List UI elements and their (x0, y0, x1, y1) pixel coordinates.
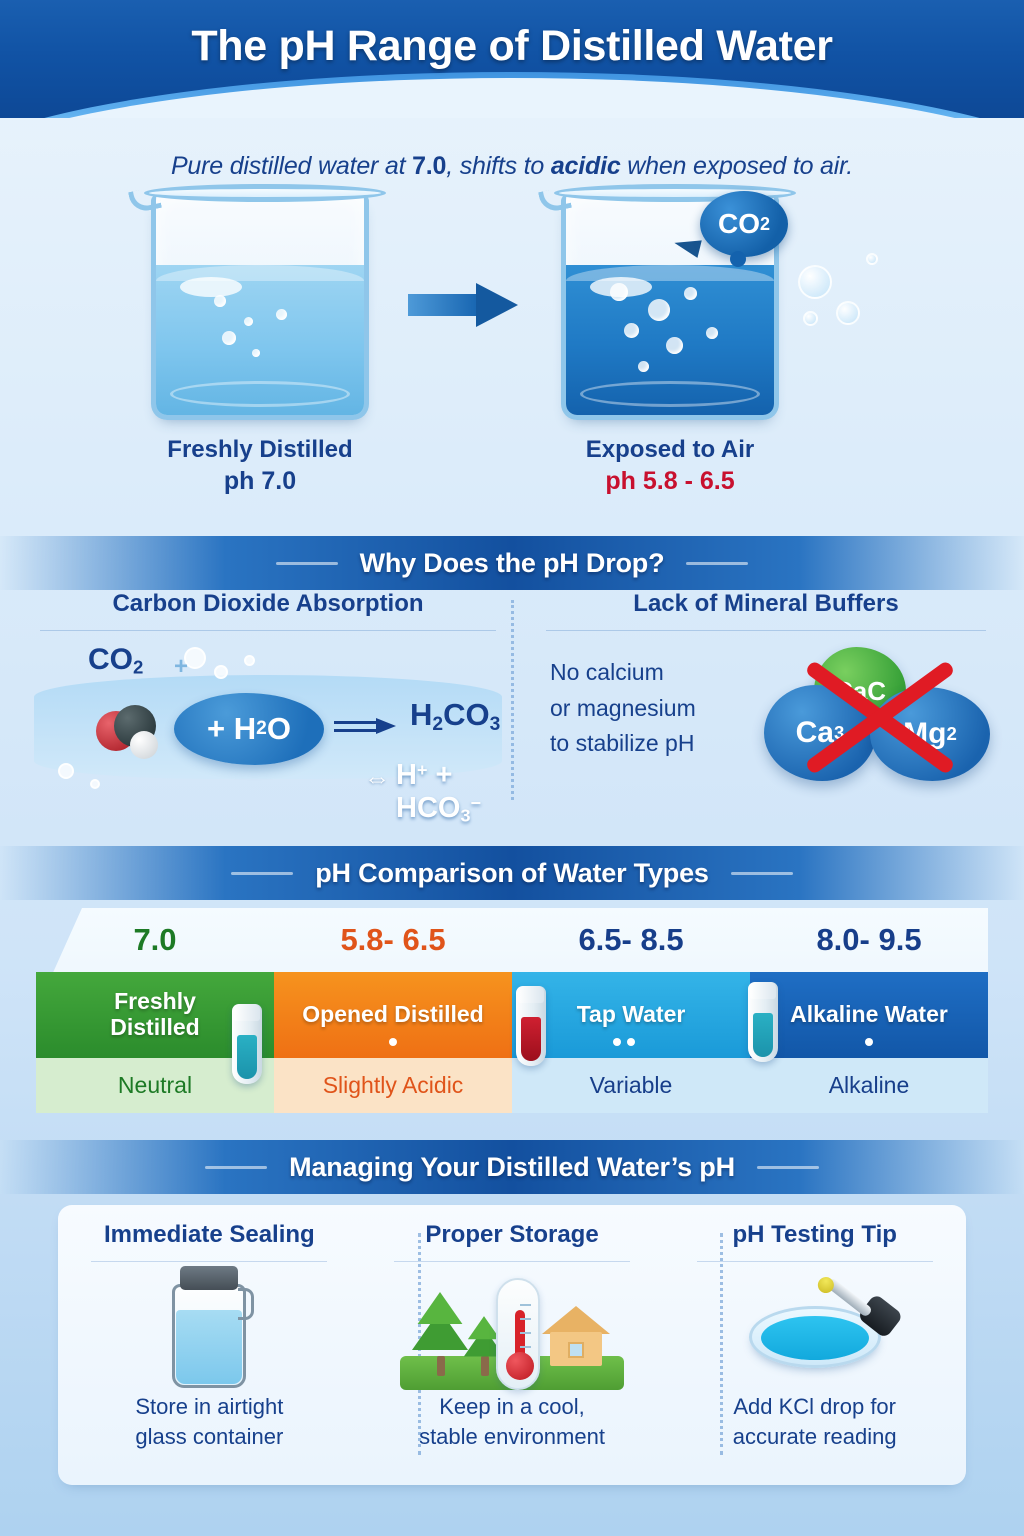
why-section-band: Why Does the pH Drop? (0, 536, 1024, 590)
ph-value: 6.5- 8.5 (512, 908, 750, 972)
tip-heading: Proper Storage (425, 1221, 598, 1249)
tip-heading: pH Testing Tip (732, 1221, 896, 1249)
equilibrium-arrow-icon: ⇔ (364, 763, 390, 794)
beaker-exposed-ph: ph 5.8 - 6.5 (520, 467, 820, 496)
beaker-comparison: Freshly Distilled ph 7.0 (0, 195, 1024, 525)
subtitle-part3: when exposed to air. (621, 152, 854, 180)
bubble-icon (276, 309, 287, 320)
equation-water-blob: + H2O (174, 693, 324, 765)
page-title: The pH Range of Distilled Water (0, 0, 1024, 71)
bubble-icon (244, 317, 253, 326)
bubble-icon (866, 253, 878, 265)
comparison-columns: 7.0 Freshly Distilled Neutral 5.8- 6.5 O… (36, 908, 988, 1113)
test-tube-icon (232, 1004, 262, 1084)
water-light (156, 265, 364, 415)
bubble-icon (222, 331, 236, 345)
bubble-icon (90, 779, 100, 789)
bubble-icon (666, 337, 683, 354)
thermometer-landscape-icon (361, 1262, 664, 1392)
water-type-label: Alkaline Water (750, 972, 988, 1058)
comparison-band-title: pH Comparison of Water Types (293, 858, 730, 889)
bubble-icon (803, 311, 818, 326)
comparison-col-alkaline-water[interactable]: 8.0- 9.5 Alkaline Water Alkaline (750, 908, 988, 1113)
ph-description: Slightly Acidic (274, 1058, 512, 1113)
band-tick-right (757, 1166, 819, 1169)
tip-caption: Store in airtight glass container (135, 1392, 283, 1451)
arrow-line (334, 729, 378, 732)
beaker-spout (128, 186, 162, 214)
beaker-exposed-icon: CO2 (561, 195, 779, 420)
hydrogen-atom (130, 731, 158, 759)
jar-water (176, 1310, 242, 1384)
band-tick-left (205, 1166, 267, 1169)
beaker-fresh-caption: Freshly Distilled (110, 436, 410, 464)
co2-arrow-icon (672, 234, 702, 258)
bubble-icon (836, 301, 860, 325)
tip-ph-testing[interactable]: pH Testing Tip (663, 1205, 966, 1485)
tree-trunk (481, 1356, 489, 1376)
bubble-icon (214, 665, 228, 679)
mineral-molecules-icon: CaC Ca3 Mg2 (760, 647, 992, 787)
tip-proper-storage[interactable]: Proper Storage (361, 1205, 664, 1485)
band-tick-right (686, 562, 748, 565)
bubble-icon (610, 283, 628, 301)
subtitle-emphasis: acidic (551, 152, 621, 180)
tip-immediate-sealing[interactable]: Immediate Sealing Store in airtight glas… (58, 1205, 361, 1485)
equation-co2: CO2 (88, 643, 143, 679)
mineral-text: No calcium or magnesium to stabilize pH (550, 655, 696, 762)
why-panel: Carbon Dioxide Absorption CO2 + + H2O (0, 590, 1024, 815)
tip-caption: Add KCl drop for accurate reading (733, 1392, 897, 1451)
water-type-label: Opened Distilled (274, 972, 512, 1058)
ph-value: 7.0 (36, 908, 274, 972)
ph-value: 8.0- 9.5 (750, 908, 988, 972)
bubble-icon (798, 265, 832, 299)
tips-panel: Immediate Sealing Store in airtight glas… (0, 1195, 1024, 1485)
band-tick-right (731, 872, 793, 875)
beaker-base-ellipse (170, 381, 350, 407)
bubble-icon (638, 361, 649, 372)
bubble-icon (58, 763, 74, 779)
water-dark (566, 265, 774, 415)
bubble-icon (252, 349, 260, 357)
marker-dot (865, 1038, 873, 1046)
beaker-fresh-group: Freshly Distilled ph 7.0 (110, 195, 410, 496)
water-gloss (180, 277, 242, 297)
why-left-rule (40, 630, 496, 631)
arrow-head (376, 718, 396, 734)
ph-description: Alkaline (750, 1058, 988, 1113)
glass-jar-icon (58, 1262, 361, 1392)
mineral-line-3: to stabilize pH (550, 726, 696, 762)
why-left-heading: Carbon Dioxide Absorption (34, 590, 502, 618)
infographic-page: The pH Range of Distilled Water Pure dis… (0, 0, 1024, 1536)
test-tube-icon (748, 982, 778, 1062)
house-icon (546, 1306, 606, 1366)
beaker-base-ellipse (580, 381, 760, 407)
dropper-petri-dish-icon (663, 1262, 966, 1392)
co2-subscript: 2 (760, 214, 770, 235)
header-banner: The pH Range of Distilled Water (0, 0, 1024, 118)
beaker-rim (144, 184, 386, 202)
co2-badge: CO2 (700, 191, 788, 257)
marker-dot (389, 1038, 397, 1046)
band-tick-left (276, 562, 338, 565)
subtitle-part1: Pure distilled water at (171, 152, 412, 180)
tip-caption-line-1: Add KCl drop for (733, 1392, 897, 1422)
mineral-line-1: No calcium (550, 655, 696, 691)
bubble-icon (244, 655, 255, 666)
comparison-col-opened-distilled[interactable]: 5.8- 6.5 Opened Distilled Slightly Acidi… (274, 908, 512, 1113)
bubble-icon (684, 287, 697, 300)
thermometer-icon (496, 1278, 540, 1390)
tip-caption: Keep in a cool, stable environment (419, 1392, 605, 1451)
tips-card: Immediate Sealing Store in airtight glas… (58, 1205, 966, 1485)
equation-plus: + (174, 653, 188, 681)
comparison-col-tap-water[interactable]: 6.5- 8.5 Tap Water Variable (512, 908, 750, 1113)
comparison-section-band: pH Comparison of Water Types (0, 846, 1024, 900)
tips-section-band: Managing Your Distilled Water’s pH (0, 1140, 1024, 1194)
tips-grid: Immediate Sealing Store in airtight glas… (58, 1205, 966, 1485)
tips-band-title: Managing Your Distilled Water’s pH (267, 1152, 757, 1183)
mineral-line-2: or magnesium (550, 691, 696, 727)
beaker-spout (538, 186, 572, 214)
why-right-rule (546, 630, 986, 631)
arrow-head (476, 283, 518, 327)
beaker-exposed-group: CO2 Exposed to Air ph 5.8 - 6.5 (520, 195, 820, 496)
tip-heading: Immediate Sealing (104, 1221, 315, 1249)
transition-arrow-icon (408, 283, 518, 327)
jar-cap (180, 1266, 238, 1290)
why-band-title: Why Does the pH Drop? (338, 548, 687, 579)
subtitle-ph-value: 7.0 (412, 152, 446, 180)
bubble-icon (648, 299, 670, 321)
marker-dot (613, 1038, 621, 1046)
jar-handle (238, 1288, 254, 1320)
ph-value: 5.8- 6.5 (274, 908, 512, 972)
reaction-arrow-icon (334, 717, 400, 737)
test-tube-icon (516, 986, 546, 1066)
why-divider (511, 600, 514, 800)
beaker-fresh-ph: ph 7.0 (110, 467, 410, 496)
co2-molecule-icon (96, 703, 158, 761)
water-type-label: Tap Water (512, 972, 750, 1058)
mineral-art: No calcium or magnesium to stabilize pH … (540, 641, 992, 801)
equation-carbonic-acid: H2CO3 (410, 697, 500, 736)
bubble-icon (624, 323, 639, 338)
why-right-column: Lack of Mineral Buffers No calcium or ma… (540, 590, 992, 815)
subtitle: Pure distilled water at 7.0, shifts to a… (0, 152, 1024, 181)
comparison-chevron: 7.0 Freshly Distilled Neutral 5.8- 6.5 O… (36, 908, 988, 1113)
bubble-icon (214, 295, 226, 307)
why-right-heading: Lack of Mineral Buffers (540, 590, 992, 618)
band-tick-left (231, 872, 293, 875)
red-x-icon (790, 655, 970, 779)
equation-dissociation: H+ + HCO3− (396, 759, 502, 826)
co2-label: CO (718, 208, 760, 240)
chemical-equation-art: CO2 + + H2O H2CO3 ⇔ H+ + HCO3 (34, 641, 502, 801)
bubble-icon (706, 327, 718, 339)
arrow-shaft (408, 294, 480, 316)
tree-trunk (437, 1356, 445, 1376)
beaker-exposed-caption: Exposed to Air (520, 436, 820, 464)
subtitle-part2: , shifts to (446, 152, 551, 180)
beaker-fresh-icon (151, 195, 369, 420)
marker-dot (627, 1038, 635, 1046)
arrow-line (334, 721, 378, 724)
why-left-column: Carbon Dioxide Absorption CO2 + + H2O (34, 590, 502, 815)
ph-comparison-chart: 7.0 Freshly Distilled Neutral 5.8- 6.5 O… (0, 900, 1024, 1130)
ph-description: Variable (512, 1058, 750, 1113)
